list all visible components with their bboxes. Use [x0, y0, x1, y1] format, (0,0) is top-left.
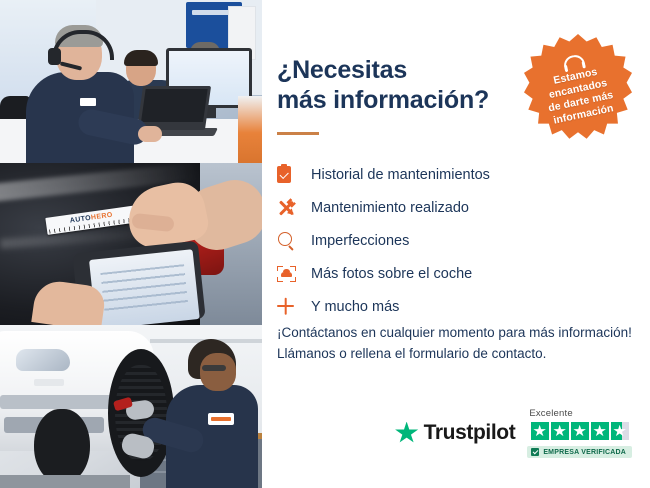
- headline-line-2: más información?: [277, 86, 489, 114]
- photo-strip: AUTOHERO: [0, 0, 262, 488]
- paragraph-line-2: Llámanos o rellena el formulario de cont…: [277, 343, 637, 364]
- mechanic-figure: [166, 339, 262, 488]
- headset-icon: [563, 53, 582, 68]
- list-item: Más fotos sobre el coche: [277, 257, 607, 290]
- mechanic-wheel-photo: [0, 325, 262, 488]
- feature-label: Imperfecciones: [307, 232, 409, 250]
- verified-label: EMPRESA VERIFICADA: [543, 449, 626, 456]
- content-panel: ¿Necesitas más información? Estamos enca…: [262, 0, 650, 488]
- star-partial-icon: [611, 422, 629, 440]
- lift-ramp-decor: [0, 475, 130, 488]
- trustpilot-rating: Trustpilot Excelente EMPRESA VERIFICADA: [395, 408, 632, 458]
- call-center-agents-photo: [0, 0, 262, 163]
- tools-cross-icon: [277, 199, 307, 217]
- agent-front-figure: [26, 28, 136, 163]
- plus-icon: [277, 298, 307, 315]
- feature-list: Historial de mantenimientos Mantenimient…: [277, 158, 607, 323]
- orange-accent-decor: [238, 96, 262, 163]
- info-banner: AUTOHERO: [0, 0, 650, 488]
- laptop-decor: [137, 86, 211, 130]
- star-filled-icon: [591, 422, 609, 440]
- list-item: Imperfecciones: [277, 224, 607, 257]
- star-filled-icon: [551, 422, 569, 440]
- trustpilot-wordmark: Trustpilot: [424, 421, 516, 445]
- paragraph-line-1: ¡Contáctanos en cualquier momento para m…: [277, 322, 637, 343]
- status-badge: EMPRESA VERIFICADA: [527, 446, 632, 458]
- feature-label: Mantenimiento realizado: [307, 199, 469, 217]
- info-starburst-badge: Estamos encantados de darte más informac…: [524, 34, 632, 142]
- rear-tire-decor: [34, 409, 90, 483]
- check-icon: [531, 448, 539, 456]
- magnifier-icon: [277, 232, 307, 249]
- feature-label: Y mucho más: [307, 298, 399, 316]
- star-rating: [531, 422, 629, 440]
- car-photo-frame-icon: [277, 266, 307, 282]
- clipboard-check-icon: [277, 166, 307, 183]
- feature-label: Más fotos sobre el coche: [307, 265, 472, 283]
- list-item: Historial de mantenimientos: [277, 158, 607, 191]
- trustpilot-star-icon: [395, 422, 419, 445]
- rating-label: Excelente: [529, 408, 573, 419]
- headline-line-1: ¿Necesitas: [277, 56, 407, 84]
- title-underline-divider: [277, 132, 319, 135]
- car-inspection-ruler-photo: AUTOHERO: [0, 163, 262, 325]
- page-title: ¿Necesitas más información?: [277, 55, 489, 115]
- star-filled-icon: [571, 422, 589, 440]
- list-item: Mantenimiento realizado: [277, 191, 607, 224]
- feature-label: Historial de mantenimientos: [307, 166, 490, 184]
- list-item: Y mucho más: [277, 290, 607, 323]
- trustpilot-logo: Trustpilot: [395, 421, 516, 445]
- star-filled-icon: [531, 422, 549, 440]
- contact-paragraph: ¡Contáctanos en cualquier momento para m…: [277, 322, 637, 364]
